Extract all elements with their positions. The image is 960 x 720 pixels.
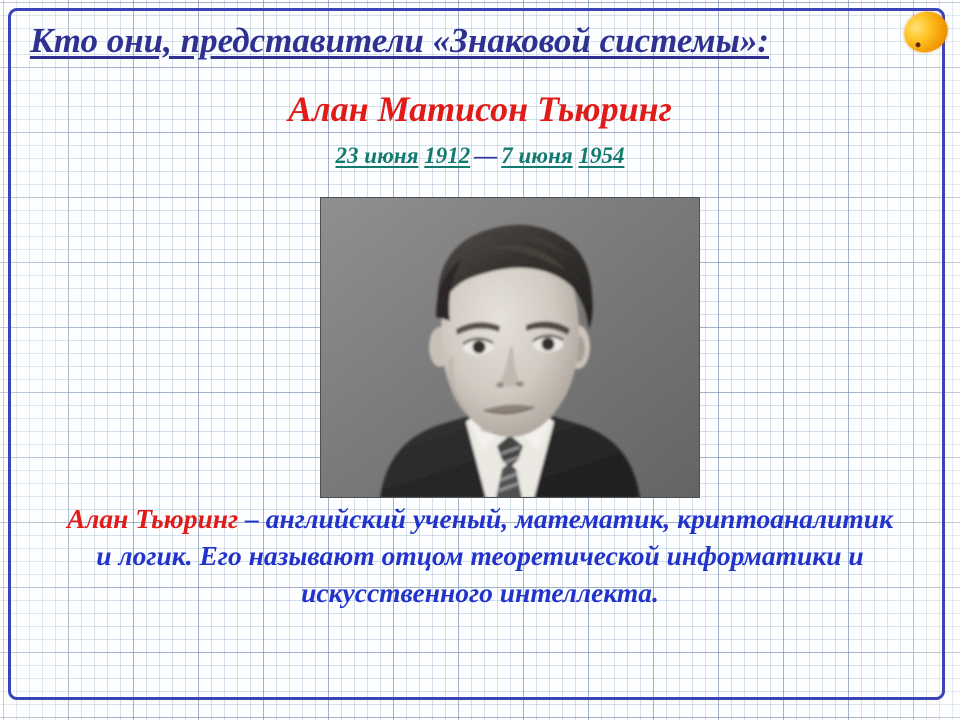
death-year-link[interactable]: 1954 bbox=[578, 143, 624, 168]
birth-day-link[interactable]: 23 июня bbox=[336, 143, 419, 168]
portrait-photo-image bbox=[320, 197, 700, 498]
person-description: Алан Тьюринг – английский ученый, матема… bbox=[62, 500, 898, 611]
person-name-heading: Алан Матисон Тьюринг bbox=[0, 88, 960, 130]
page-title: Кто они, представители «Знаковой системы… bbox=[30, 20, 930, 62]
dates-separator: — bbox=[470, 143, 501, 168]
slide-canvas: Кто они, представители «Знаковой системы… bbox=[0, 0, 960, 720]
portrait-photo bbox=[320, 197, 700, 498]
description-highlight: Алан Тьюринг bbox=[67, 503, 238, 534]
birth-year-link[interactable]: 1912 bbox=[424, 143, 470, 168]
life-dates-line: 23 июня 1912—7 июня 1954 bbox=[0, 142, 960, 170]
death-day-link[interactable]: 7 июня bbox=[501, 143, 572, 168]
